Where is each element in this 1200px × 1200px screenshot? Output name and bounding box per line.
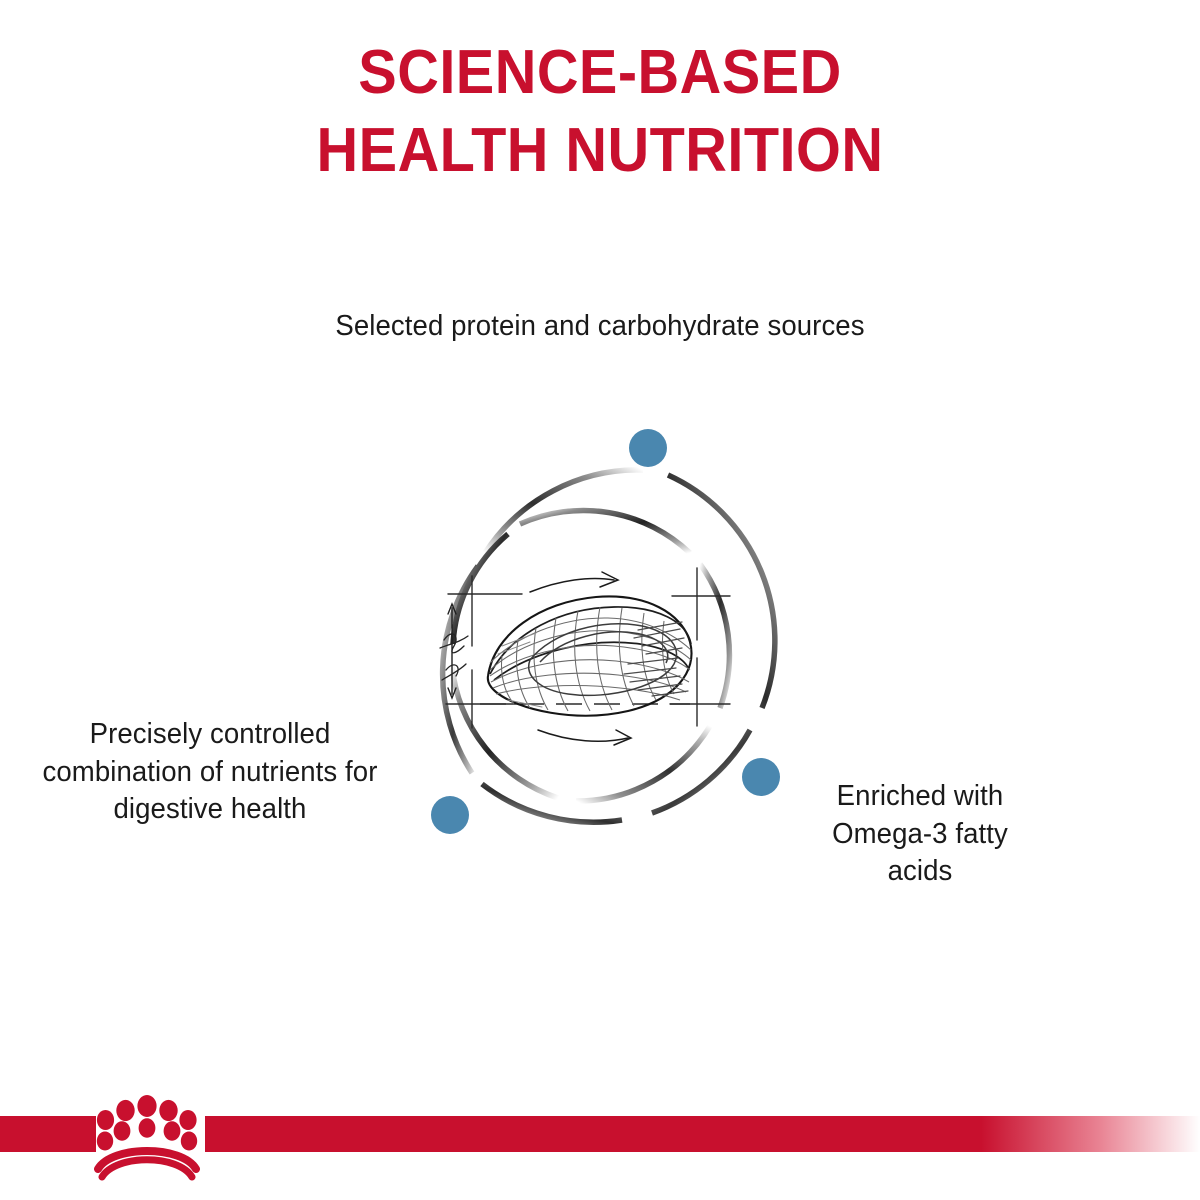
crown-base-arcs [98,1151,196,1177]
kibble-ring-diagram [390,408,810,868]
marker-top-dot[interactable] [629,429,667,467]
callout-digestive-health: Precisely controlled combination of nutr… [30,716,391,829]
page-title: SCIENCE-BASED HEALTH NUTRITION [42,34,1158,190]
royal-canin-crown-logo [82,1093,212,1185]
crown-dots [97,1095,197,1151]
marker-bottom-right-dot[interactable] [742,758,780,796]
brand-bar-right-segment [205,1116,1200,1152]
kibble-sketch [440,568,730,745]
callout-omega-3: Enriched with Omega-3 fatty acids [811,778,1030,891]
poster-root: SCIENCE-BASED HEALTH NUTRITION Selected … [0,0,1200,1200]
page-title-line-1: SCIENCE-BASED [42,34,1158,112]
page-title-line-2: HEALTH NUTRITION [42,112,1158,190]
callout-selected-protein: Selected protein and carbohydrate source… [315,308,885,346]
marker-bottom-left-dot[interactable] [431,796,469,834]
